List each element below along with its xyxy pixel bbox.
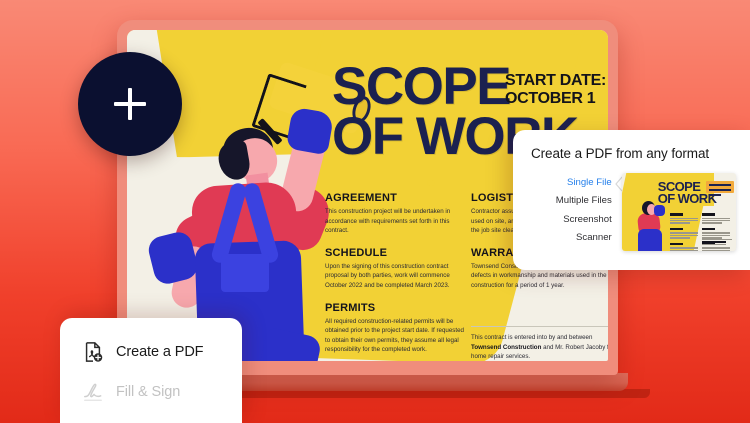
- thumb-text-line: [702, 222, 722, 223]
- app-stage: SCOPEOF WORK START DATE: OCTOBER 1 AGREE…: [0, 0, 750, 423]
- panel-body: Single FileMultiple FilesScreenshotScann…: [531, 173, 736, 251]
- thumb-section-heading: [702, 213, 715, 216]
- format-option-screenshot[interactable]: Screenshot: [531, 210, 612, 229]
- document-start-date: START DATE: OCTOBER 1: [505, 72, 606, 108]
- format-option-list: Single FileMultiple FilesScreenshotScann…: [531, 173, 612, 247]
- section-body: This construction project will be undert…: [325, 207, 465, 236]
- paint-fleck: [427, 180, 435, 186]
- thumb-text-line: [670, 232, 698, 233]
- document-footer: This contract is entered into by and bet…: [471, 326, 608, 361]
- panel-title: Create a PDF from any format: [531, 146, 736, 161]
- add-button[interactable]: [78, 52, 182, 156]
- footer-prefix: This contract is entered into by and bet…: [471, 334, 592, 341]
- document-column-left: AGREEMENTThis construction project will …: [325, 192, 465, 361]
- thumb-section-heading: [702, 228, 715, 231]
- document-thumbnail[interactable]: SCOPEOF WORK: [622, 173, 736, 251]
- fill-sign-label: Fill & Sign: [116, 384, 180, 400]
- section-body: Upon the signing of this construction co…: [325, 262, 465, 291]
- thumb-section-heading: [670, 243, 683, 246]
- thumb-text-line: [670, 250, 698, 251]
- thumb-footer-line: [702, 241, 726, 242]
- thumb-section-heading: [670, 213, 683, 216]
- overall-pocket: [221, 254, 269, 292]
- format-option-single-file[interactable]: Single File: [531, 173, 612, 192]
- create-pdf-label: Create a PDF: [116, 344, 203, 360]
- thumb-start-date-badge: [706, 181, 734, 193]
- thumb-text-line: [702, 250, 730, 251]
- fill-sign-row[interactable]: Fill & Sign: [60, 372, 242, 412]
- start-date-label: START DATE:: [505, 72, 606, 90]
- thumb-footer-line: [702, 239, 732, 240]
- create-pdf-row[interactable]: Create a PDF: [60, 332, 242, 372]
- thumb-text-line: [670, 218, 698, 219]
- format-option-multiple-files[interactable]: Multiple Files: [531, 192, 612, 211]
- thumb-text-line: [702, 232, 730, 233]
- thumb-headline-line-2: OF WORK: [658, 193, 717, 205]
- thumb-text-line: [702, 235, 730, 236]
- thumb-text-line: [702, 218, 730, 219]
- laptop-base: [228, 373, 628, 391]
- section-heading: AGREEMENT: [325, 192, 465, 204]
- thumb-footer: [702, 239, 732, 246]
- thumb-section-heading: [670, 228, 683, 231]
- thumb-text-line: [670, 222, 690, 223]
- create-pdf-icon: [82, 341, 104, 363]
- thumb-text-line: [702, 247, 730, 248]
- fill-sign-icon: [82, 381, 104, 403]
- thumb-footer-line: [702, 244, 726, 245]
- thumb-text-line: [670, 220, 698, 221]
- start-date-value: OCTOBER 1: [505, 90, 606, 108]
- action-card: Create a PDF Fill & Sign: [60, 318, 242, 423]
- thumb-column-left: [670, 213, 698, 251]
- create-pdf-panel: Create a PDF from any format Single File…: [513, 130, 750, 270]
- section-heading: SCHEDULE: [325, 247, 465, 259]
- thumb-worker: [630, 199, 670, 251]
- thumb-text-line: [670, 235, 698, 236]
- format-option-scanner[interactable]: Scanner: [531, 229, 612, 248]
- footer-company: Townsend Construction: [471, 344, 541, 351]
- thumb-worker-overalls: [638, 229, 662, 251]
- section-body: All required construction-related permit…: [325, 317, 465, 355]
- section-heading: PERMITS: [325, 302, 465, 314]
- thumb-text-line: [702, 220, 730, 221]
- thumb-text-line: [670, 247, 698, 248]
- thumb-worker-glove: [654, 205, 665, 216]
- thumb-text-line: [670, 237, 690, 238]
